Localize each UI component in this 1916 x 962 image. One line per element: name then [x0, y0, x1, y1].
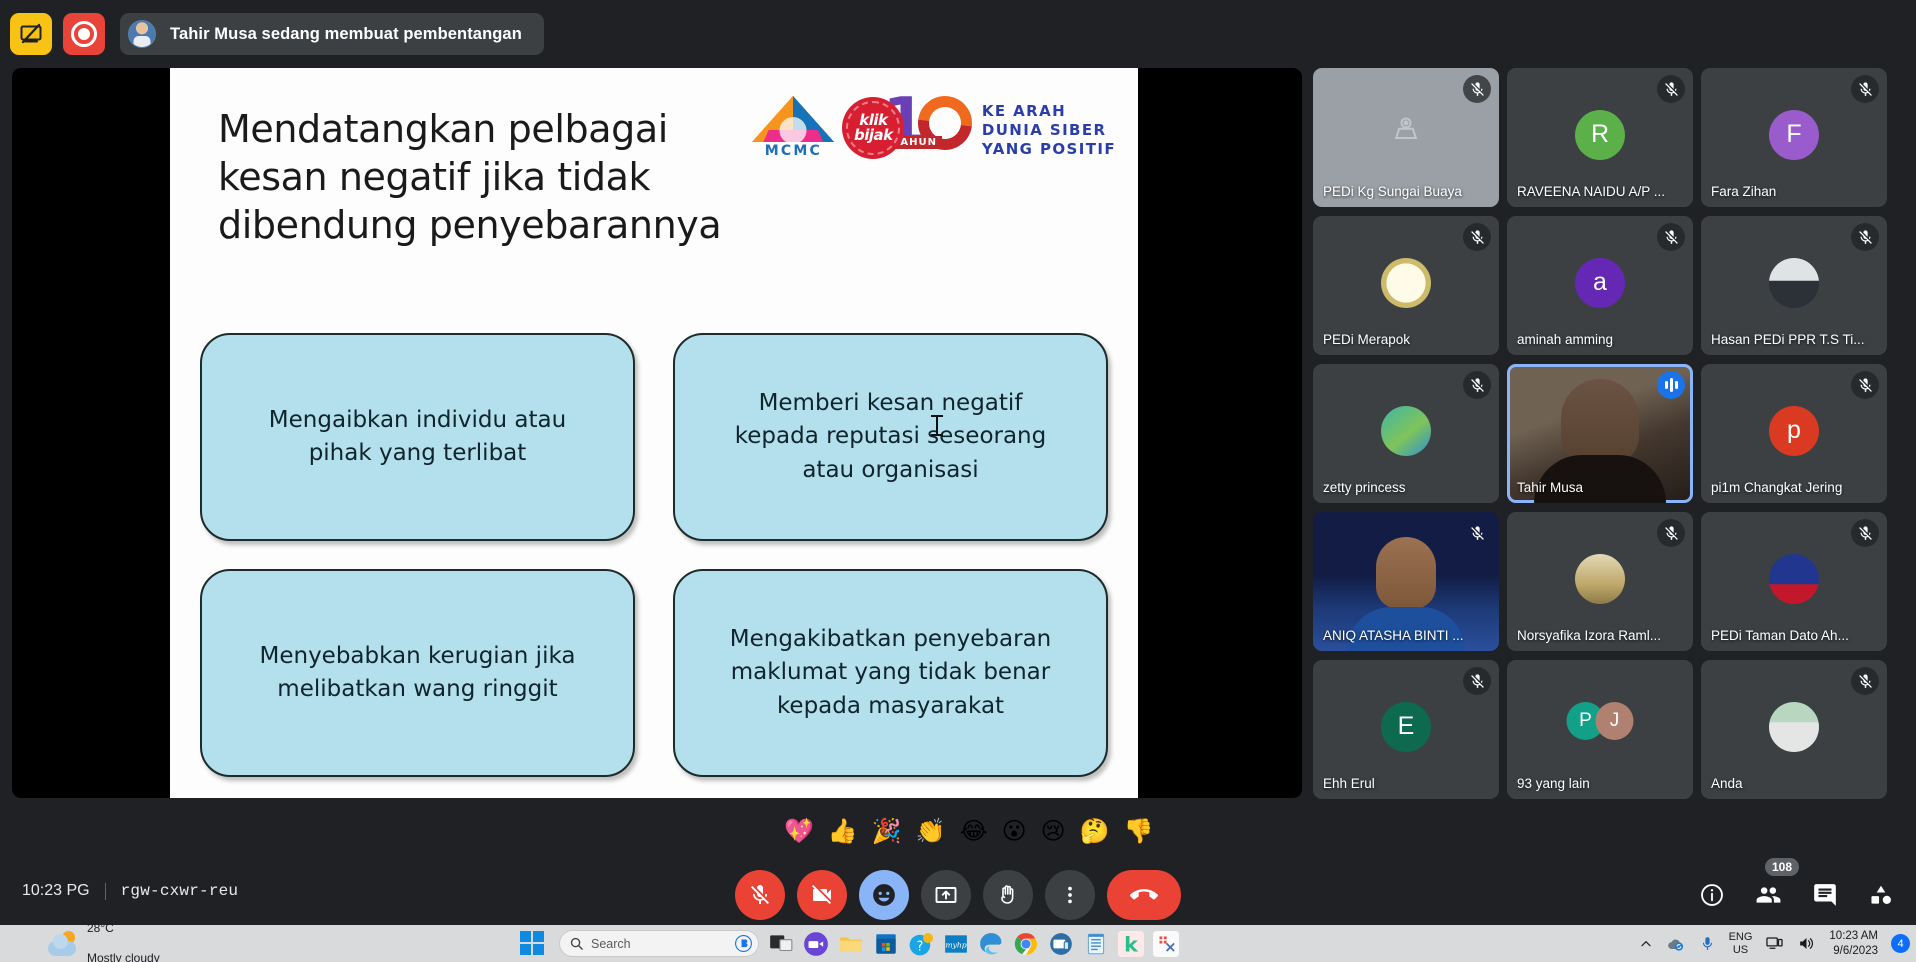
slide-box: Mengaibkan individu atau pihak yang terl… [200, 333, 635, 541]
reaction-thumbs-up[interactable]: 👍 [828, 819, 858, 843]
participant-name: Norsyafika Izora Raml... [1517, 628, 1685, 643]
meeting-right-icons: 108 [1699, 882, 1894, 913]
meeting-controls [735, 870, 1181, 920]
chevron-up-icon[interactable] [1639, 937, 1653, 951]
participant-tile[interactable]: ppi1m Changkat Jering [1701, 364, 1887, 503]
avatar: F [1769, 110, 1819, 160]
people-icon[interactable]: 108 [1755, 882, 1782, 913]
participant-name: pi1m Changkat Jering [1711, 480, 1879, 495]
reaction-face-with-tears-of-joy[interactable]: 😂 [960, 819, 988, 843]
klik-line2: bijak [854, 128, 893, 143]
svg-text:?: ? [916, 939, 923, 954]
microsoft-store-icon[interactable] [873, 931, 899, 957]
participant-tile[interactable]: Norsyafika Izora Raml... [1507, 512, 1693, 651]
reaction-sparkling-heart[interactable]: 💖 [784, 819, 814, 843]
meeting-meta: 10:23 PG rgw-cxwr-reu [22, 882, 238, 900]
chat-icon[interactable] [1812, 882, 1838, 913]
task-view-icon[interactable] [768, 931, 794, 957]
mcmc-triangle-icon [752, 96, 834, 142]
participant-tile[interactable]: ANIQ ATASHA BINTI ... [1313, 512, 1499, 651]
participant-tile[interactable]: aaminah amming [1507, 216, 1693, 355]
participant-name: Ehh Erul [1323, 776, 1491, 791]
video-feed [1376, 537, 1436, 609]
start-button[interactable] [520, 931, 546, 957]
avatar [1381, 258, 1431, 308]
avatar [1575, 554, 1625, 604]
muted-mic-icon [1851, 371, 1879, 399]
onedrive-sync-icon[interactable] [1666, 934, 1686, 954]
taskbar-weather-widget[interactable]: 28°C Mostly cloudy [0, 906, 520, 962]
muted-mic-icon [1463, 667, 1491, 695]
weather-description: Mostly cloudy [87, 951, 160, 962]
participant-tile[interactable]: zetty princess [1313, 364, 1499, 503]
slide-box: Menyebabkan kerugian jika melibatkan wan… [200, 569, 635, 777]
slide-box: Mengakibatkan penyebaran maklumat yang t… [673, 569, 1108, 777]
muted-mic-icon [1463, 519, 1491, 547]
participant-tile[interactable]: PEDi Taman Dato Ah... [1701, 512, 1887, 651]
activities-icon[interactable] [1868, 882, 1894, 913]
partly-cloudy-icon [48, 931, 78, 957]
edge-icon[interactable] [978, 931, 1004, 957]
svg-text:myhp: myhp [945, 940, 966, 949]
participant-name: zetty princess [1323, 480, 1491, 495]
reactions-bar[interactable]: 💖👍🎉👏😂😮😢🤔👎 [770, 808, 1167, 854]
stop-presenting-icon[interactable] [10, 13, 52, 55]
participant-name: PEDi Merapok [1323, 332, 1491, 347]
participant-name: PEDi Taman Dato Ah... [1711, 628, 1879, 643]
muted-mic-icon [1851, 519, 1879, 547]
more-options-button[interactable] [1045, 870, 1095, 920]
participant-name: Hasan PEDi PPR T.S Ti... [1711, 332, 1879, 347]
campaign-tagline: KE ARAH DUNIA SIBER YANG POSITIF [982, 102, 1116, 160]
avatar: p [1769, 406, 1819, 456]
volume-icon[interactable] [1797, 934, 1816, 953]
people-count-badge: 108 [1765, 858, 1799, 876]
muted-mic-icon [1657, 75, 1685, 103]
svg-text:k: k [1124, 932, 1139, 956]
reaction-crying-face[interactable]: 😢 [1041, 819, 1066, 843]
meeting-code: rgw-cxwr-reu [121, 882, 239, 900]
mcmc-wordmark: MCMC [750, 143, 836, 159]
meeting-top-bar: Tahir Musa sedang membuat pembentangan [0, 0, 1916, 68]
reaction-face-with-open-mouth[interactable]: 😮 [1002, 819, 1027, 843]
video-feed [1561, 379, 1639, 465]
participant-name: aminah amming [1517, 332, 1685, 347]
participant-name: Fara Zihan [1711, 184, 1879, 199]
speaking-indicator-icon [1657, 371, 1685, 399]
microphone-icon[interactable] [1699, 935, 1716, 952]
end-call-button[interactable] [1107, 870, 1181, 920]
copilot-icon[interactable] [734, 934, 753, 953]
record-dot [78, 28, 90, 40]
muted-mic-icon [1463, 223, 1491, 251]
participant-name: PEDi Kg Sungai Buaya [1323, 184, 1491, 199]
reaction-thumbs-down[interactable]: 👎 [1124, 819, 1154, 843]
recording-icon[interactable] [63, 13, 105, 55]
participant-tile[interactable]: PJ93 yang lain [1507, 660, 1693, 799]
muted-mic-icon [1851, 75, 1879, 103]
participant-tile[interactable]: PEDi Merapok [1313, 216, 1499, 355]
avatar [1769, 554, 1819, 604]
help-icon[interactable]: ? [908, 931, 934, 957]
display-settings-icon[interactable] [1765, 934, 1784, 953]
participant-tile[interactable]: Anda [1701, 660, 1887, 799]
avatar: E [1381, 702, 1431, 752]
muted-mic-icon [1657, 223, 1685, 251]
myhp-icon[interactable]: myhp [943, 931, 969, 957]
chrome-icon[interactable] [1013, 931, 1039, 957]
avatar [1769, 702, 1819, 752]
participant-name: Tahir Musa [1517, 480, 1685, 495]
meeting-details-icon[interactable] [1699, 882, 1725, 913]
mcmc-logo: MCMC [750, 96, 836, 159]
muted-mic-icon [1851, 667, 1879, 695]
weather-text: 28°C Mostly cloudy [87, 906, 160, 962]
slide-title: Mendatangkan pelbagai kesan negatif jika… [200, 96, 740, 250]
record-ring [71, 21, 97, 47]
system-tray: ENG US 10:23 AM 9/6/2023 4 [1639, 929, 1910, 959]
video-feed-body [1534, 455, 1666, 503]
search-icon [569, 936, 584, 951]
zoom-icon[interactable] [803, 931, 829, 957]
reaction-clapping-hands[interactable]: 👏 [916, 819, 946, 843]
avatar [1381, 406, 1431, 456]
reactions-button[interactable] [859, 870, 909, 920]
notepad-icon[interactable] [1083, 931, 1109, 957]
snipping-tool-icon[interactable] [1153, 931, 1179, 957]
kahoot-icon[interactable]: k [1118, 931, 1144, 957]
participant-tile[interactable]: Hasan PEDi PPR T.S Ti... [1701, 216, 1887, 355]
participant-name: Anda [1711, 776, 1879, 791]
participant-name: RAVEENA NAIDU A/P ... [1517, 184, 1685, 199]
participant-tile[interactable]: FFara Zihan [1701, 68, 1887, 207]
search-placeholder: Search [591, 937, 734, 951]
avatar [1769, 258, 1819, 308]
search-box[interactable]: Search [559, 930, 759, 957]
remote-desktop-icon[interactable] [1048, 931, 1074, 957]
avatar: R [1575, 110, 1625, 160]
present-screen-button[interactable] [921, 870, 971, 920]
presenter-status-pill: Tahir Musa sedang membuat pembentangan [120, 13, 544, 55]
windows-taskbar: 28°C Mostly cloudy Search [0, 925, 1916, 962]
participant-tile[interactable]: PEDi Kg Sungai Buaya [1313, 68, 1499, 207]
notification-badge[interactable]: 4 [1891, 934, 1910, 953]
camera-off-placeholder-icon [1389, 112, 1423, 151]
klik-line1: klik [854, 113, 893, 128]
muted-mic-icon [1657, 519, 1685, 547]
avatar-pair: PJ [1567, 702, 1634, 740]
participant-tile[interactable]: Tahir Musa [1507, 364, 1693, 503]
meeting-time: 10:23 PG [22, 882, 90, 900]
reaction-thinking-face[interactable]: 🤔 [1080, 819, 1110, 843]
file-explorer-icon[interactable] [838, 931, 864, 957]
presenter-avatar [128, 20, 156, 48]
raise-hand-button[interactable] [983, 870, 1033, 920]
participant-grid: PEDi Kg Sungai BuayaRRAVEENA NAIDU A/P .… [1313, 68, 1905, 799]
microphone-off-button[interactable] [735, 870, 785, 920]
presentation-stage[interactable]: Mendatangkan pelbagai kesan negatif jika… [12, 68, 1302, 798]
text-cursor [936, 416, 938, 435]
language-indicator[interactable]: ENG US [1729, 931, 1753, 956]
muted-mic-icon [1463, 371, 1491, 399]
participant-tile[interactable]: EEhh Erul [1313, 660, 1499, 799]
slide-box: Memberi kesan negatif kepada reputasi se… [673, 333, 1108, 541]
camera-off-button[interactable] [797, 870, 847, 920]
avatar: a [1575, 258, 1625, 308]
participant-name: 93 yang lain [1517, 776, 1685, 791]
weather-temperature: 28°C [87, 921, 160, 936]
slide-logo-group: MCMC klik bijak 1 TAHUN KE ARAH DUNIA SI… [750, 96, 1116, 160]
slide-box-grid: Mengaibkan individu atau pihak yang terl… [200, 333, 1108, 777]
muted-mic-icon [1851, 223, 1879, 251]
meta-divider [105, 883, 106, 900]
muted-mic-icon [1463, 75, 1491, 103]
clock[interactable]: 10:23 AM 9/6/2023 [1829, 929, 1878, 959]
participant-tile[interactable]: RRAVEENA NAIDU A/P ... [1507, 68, 1693, 207]
participant-name: ANIQ ATASHA BINTI ... [1323, 628, 1491, 643]
shared-slide: Mendatangkan pelbagai kesan negatif jika… [170, 68, 1138, 798]
presenter-status-label: Tahir Musa sedang membuat pembentangan [170, 25, 522, 44]
taskbar-app-strip: Search [520, 930, 1179, 957]
klik-dengan-bijak-logo: klik bijak [842, 97, 904, 159]
reaction-party-popper[interactable]: 🎉 [872, 819, 902, 843]
